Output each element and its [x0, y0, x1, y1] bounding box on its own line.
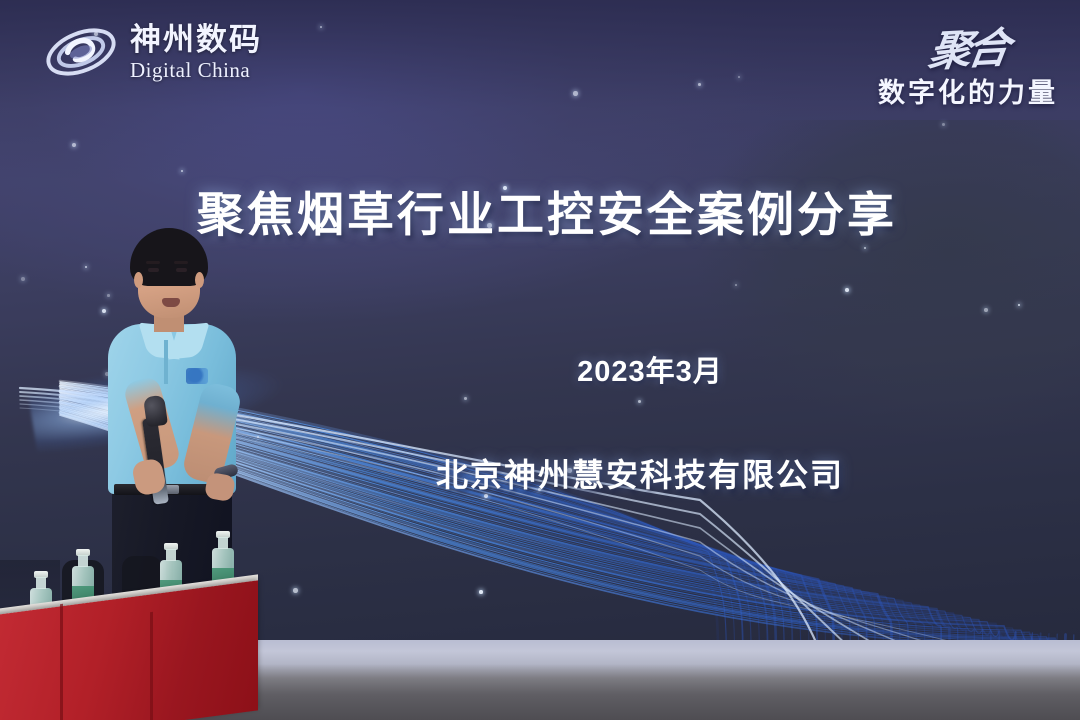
stage-photo: 聚焦烟草行业工控安全案例分享 2023年3月 北京神州慧安科技有限公司 神州数码…	[0, 0, 1080, 720]
bottle-neck	[78, 555, 88, 567]
presenter-eye-left	[148, 268, 159, 272]
presenter-mouth	[162, 298, 180, 307]
brand-name-en: Digital China	[130, 60, 262, 81]
event-logo: 聚合 数字化的力量	[878, 16, 1058, 110]
table-cloth-fold	[60, 604, 63, 720]
presenter-ear-right	[195, 272, 204, 288]
event-calligraphy: 聚合	[925, 14, 1010, 79]
digital-china-logo: 神州数码 Digital China	[42, 16, 262, 88]
bottle-neck	[218, 537, 228, 549]
slide-title-text: 聚焦烟草行业工控安全案例分享	[183, 188, 897, 241]
digital-china-spiral-icon	[42, 16, 120, 88]
polo-placket	[164, 340, 168, 384]
digital-china-wordmark: 神州数码 Digital China	[130, 24, 262, 81]
presenter-eyebrow-right	[174, 261, 188, 264]
bottle-neck	[166, 549, 176, 561]
presenter-eyebrow-left	[146, 261, 160, 264]
bottle-neck	[36, 577, 46, 589]
presenter-ear-left	[134, 272, 143, 288]
presenter-eye-right	[176, 268, 187, 272]
table-cloth-fold	[150, 612, 153, 720]
brand-name-cn: 神州数码	[130, 24, 262, 55]
polo-chest-logo	[186, 368, 208, 384]
event-tagline: 数字化的力量	[878, 71, 1058, 110]
